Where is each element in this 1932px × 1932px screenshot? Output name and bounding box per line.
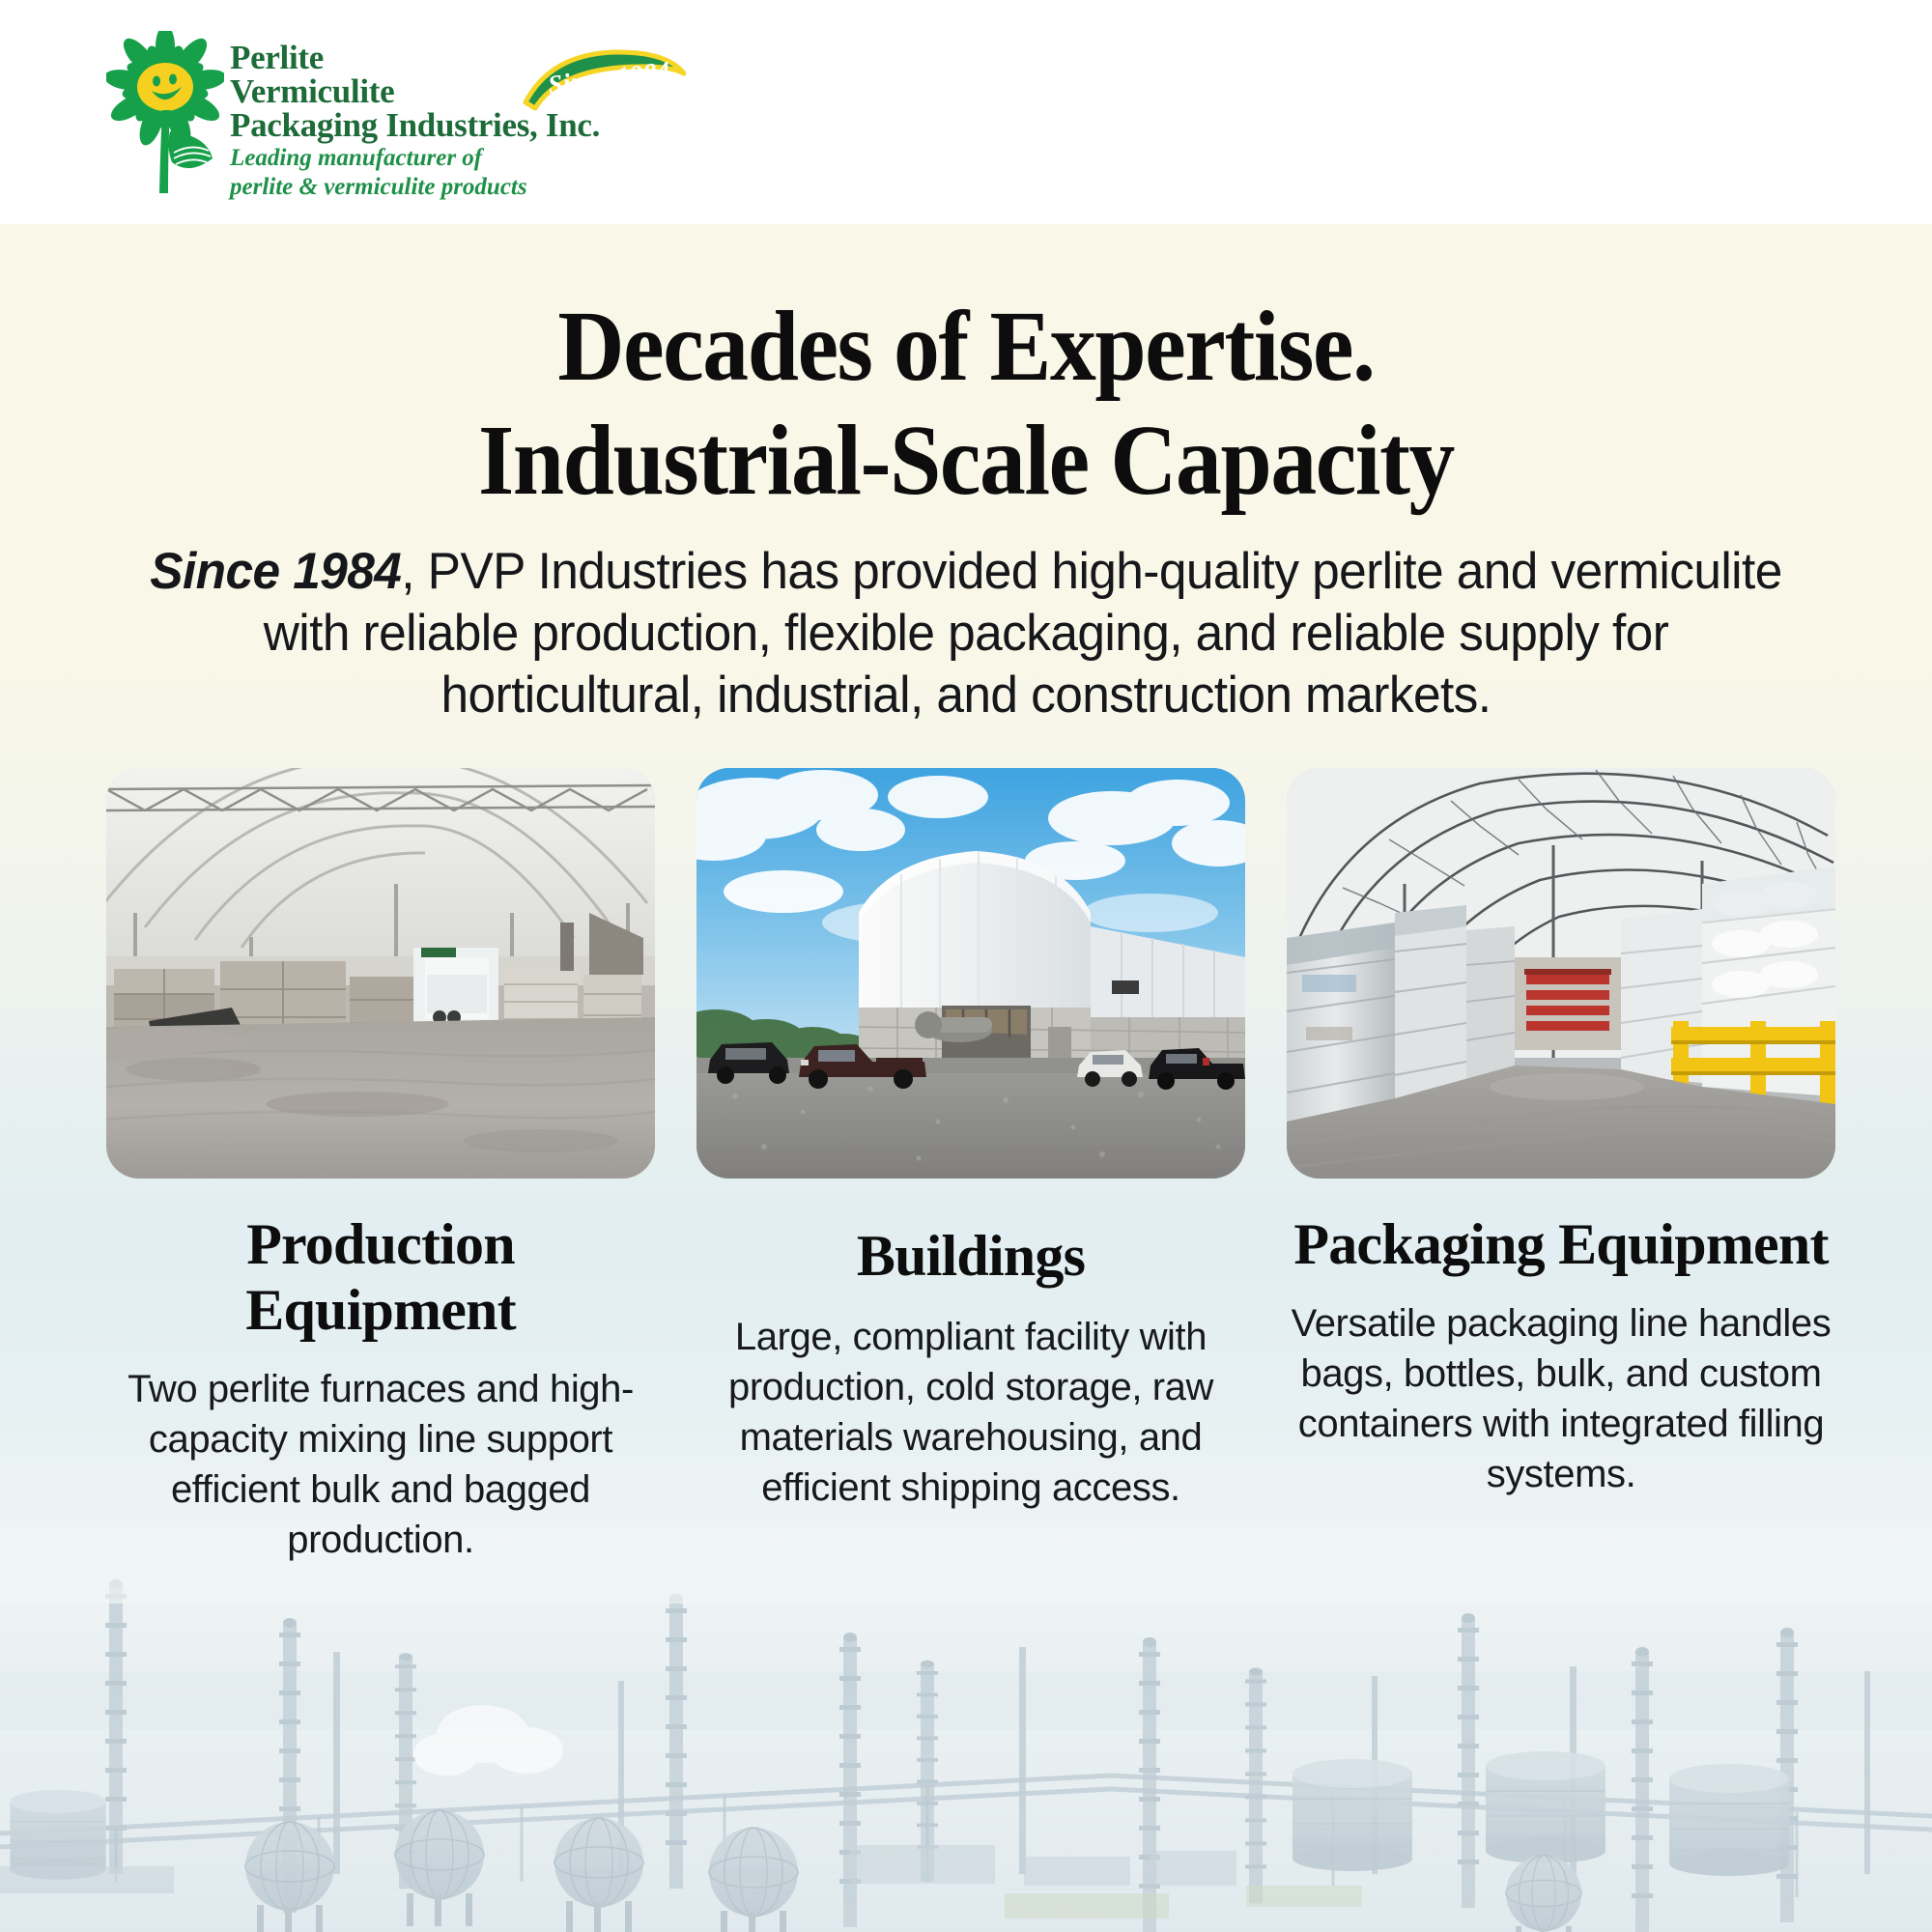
card-body-production-equipment: Two perlite furnaces and high-capacity m…	[106, 1364, 655, 1565]
logo-name-line-3: Packaging Industries, Inc.	[230, 108, 607, 142]
header-band: Perlite Vermiculite Packaging Industries…	[0, 0, 1932, 224]
sunflower-logo-icon	[106, 31, 224, 195]
card-title-buildings: Buildings	[696, 1223, 1245, 1289]
logo-tagline-line-1: Leading manufacturer of	[230, 145, 607, 171]
card-title-production-equipment: Production Equipment	[106, 1211, 655, 1343]
subhead-lead: Since 1984	[150, 543, 401, 600]
company-logo[interactable]: Perlite Vermiculite Packaging Industries…	[106, 21, 609, 205]
subhead-paragraph: Since 1984, PVP Industries has provided …	[132, 541, 1801, 726]
headline-line-1: Decades of Expertise.	[77, 290, 1855, 404]
feature-card-buildings: Buildings Large, compliant facility with…	[696, 768, 1245, 1565]
card-body-buildings: Large, compliant facility with productio…	[696, 1312, 1245, 1513]
feature-card-production-equipment: Production Equipment Two perlite furnace…	[106, 768, 655, 1565]
production-warehouse-photo	[106, 768, 655, 1179]
feature-cards-row: Production Equipment Two perlite furnace…	[106, 768, 1835, 1565]
buildings-exterior-photo	[696, 768, 1245, 1179]
card-title-packaging-equipment: Packaging Equipment	[1287, 1211, 1835, 1277]
packaging-warehouse-photo	[1287, 768, 1835, 1179]
industrial-refinery-skyline-illustration	[0, 1526, 1932, 1932]
since-1984-badge: Since 1984	[522, 48, 686, 112]
page-headline: Decades of Expertise. Industrial-Scale C…	[0, 290, 1932, 518]
infographic-canvas: Perlite Vermiculite Packaging Industries…	[0, 0, 1932, 1932]
subhead-rest: , PVP Industries has provided high-quali…	[264, 543, 1782, 724]
logo-tagline-line-2: perlite & vermiculite products	[230, 174, 607, 200]
headline-line-2: Industrial-Scale Capacity	[77, 404, 1855, 518]
card-body-packaging-equipment: Versatile packaging line handles bags, b…	[1287, 1298, 1835, 1499]
feature-card-packaging-equipment: Packaging Equipment Versatile packaging …	[1287, 768, 1835, 1565]
